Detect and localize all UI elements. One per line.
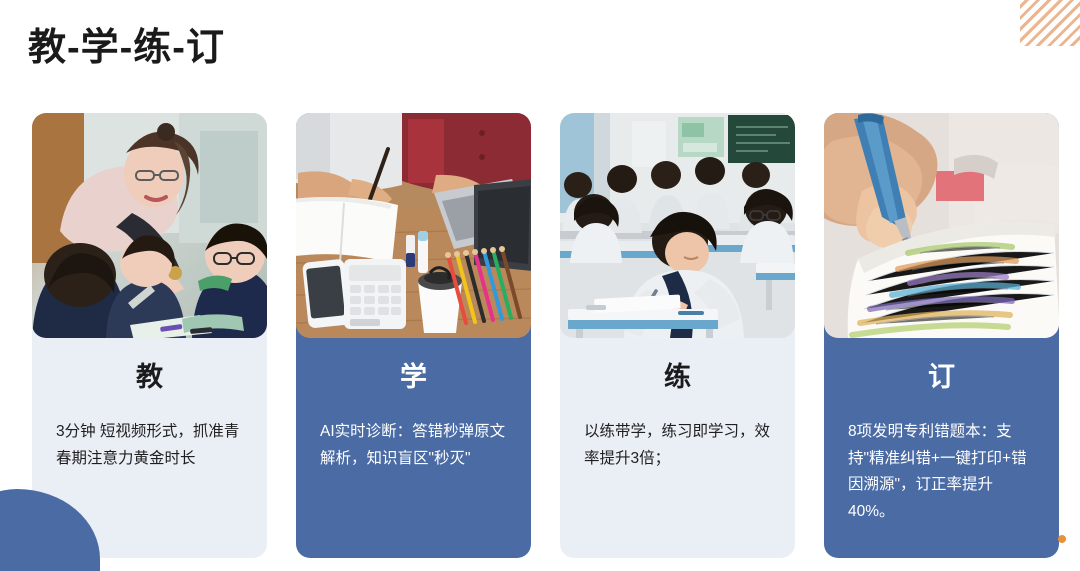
hand-writing-notebook-photo — [824, 113, 1059, 338]
teacher-helping-students-photo — [32, 113, 267, 338]
card-list: 教 3分钟 短视频形式，抓准青春期注意力黄金时长 — [32, 113, 1059, 558]
card-body: 练 以练带学，练习即学习，效率提升3倍； — [560, 338, 795, 558]
card-heading: 教 — [136, 364, 163, 391]
card-xue[interactable]: 学 AI实时诊断：答错秒弹原文解析，知识盲区"秒灭" — [296, 113, 531, 558]
orange-dot-icon — [1058, 535, 1066, 543]
card-body: 学 AI实时诊断：答错秒弹原文解析，知识盲区"秒灭" — [296, 338, 531, 558]
card-description: AI实时诊断：答错秒弹原文解析，知识盲区"秒灭" — [316, 419, 511, 472]
card-body: 订 8项发明专利错题本：支持"精准纠错+一键打印+错因溯源"，订正率提升40%。 — [824, 338, 1059, 558]
card-description: 以练带学，练习即学习，效率提升3倍； — [580, 419, 775, 472]
card-ding[interactable]: 订 8项发明专利错题本：支持"精准纠错+一键打印+错因溯源"，订正率提升40%。 — [824, 113, 1059, 558]
card-lian[interactable]: 练 以练带学，练习即学习，效率提升3倍； — [560, 113, 795, 558]
card-description: 8项发明专利错题本：支持"精准纠错+一键打印+错因溯源"，订正率提升40%。 — [844, 419, 1039, 526]
top-right-decoration — [1020, 0, 1080, 46]
card-heading: 订 — [928, 364, 955, 391]
card-jiao[interactable]: 教 3分钟 短视频形式，抓准青春期注意力黄金时长 — [32, 113, 267, 558]
card-heading: 练 — [664, 364, 691, 391]
slide-root: 教-学-练-订 — [0, 0, 1080, 571]
diagonal-stripes-icon — [1020, 0, 1080, 46]
card-heading: 学 — [400, 364, 427, 391]
classroom-students-writing-photo — [560, 113, 795, 338]
desk-laptop-stationery-photo — [296, 113, 531, 338]
page-title: 教-学-练-订 — [28, 26, 225, 72]
card-description: 3分钟 短视频形式，抓准青春期注意力黄金时长 — [52, 419, 247, 472]
